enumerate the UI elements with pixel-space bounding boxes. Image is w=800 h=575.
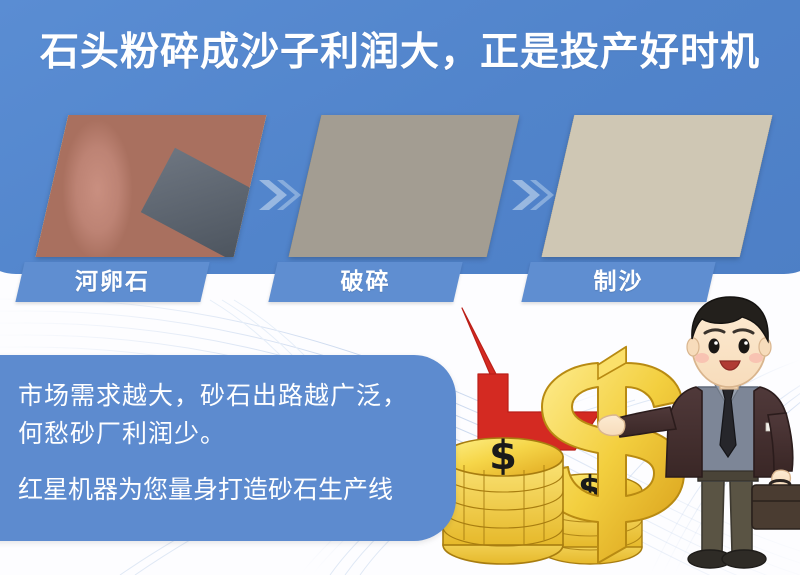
gold-coin-stack-main: $ (443, 433, 563, 564)
svg-text:$: $ (489, 433, 517, 479)
money-and-businessman-illustration: $ $ (430, 295, 800, 575)
process-label-1: 河卵石 (20, 262, 205, 302)
gravel-texture (289, 115, 520, 257)
process-photo-manufactured-sand (542, 115, 773, 257)
message-line-3: 红星机器为您量身打造砂石生产线 (18, 471, 412, 509)
page-title: 石头粉碎成沙子利润大，正是投产好时机 (0, 27, 800, 79)
poster-canvas: 石头粉碎成沙子利润大，正是投产好时机 河卵石 破碎 制沙 (0, 0, 800, 575)
process-label-banner-1: 河卵石 (15, 262, 209, 302)
chevron-right-icon (255, 178, 303, 212)
message-line-2: 何愁砂厂利润少。 (18, 415, 412, 453)
pebbles-texture (36, 115, 267, 257)
chevron-right-icon (508, 178, 556, 212)
process-photo-crushed-gravel (289, 115, 520, 257)
message-box: 市场需求越大，砂石出路越广泛， 何愁砂厂利润少。 红星机器为您量身打造砂石生产线 (0, 355, 456, 541)
message-line-1: 市场需求越大，砂石出路越广泛， (18, 377, 412, 415)
process-photo-river-pebbles (36, 115, 267, 257)
sand-texture (542, 115, 773, 257)
